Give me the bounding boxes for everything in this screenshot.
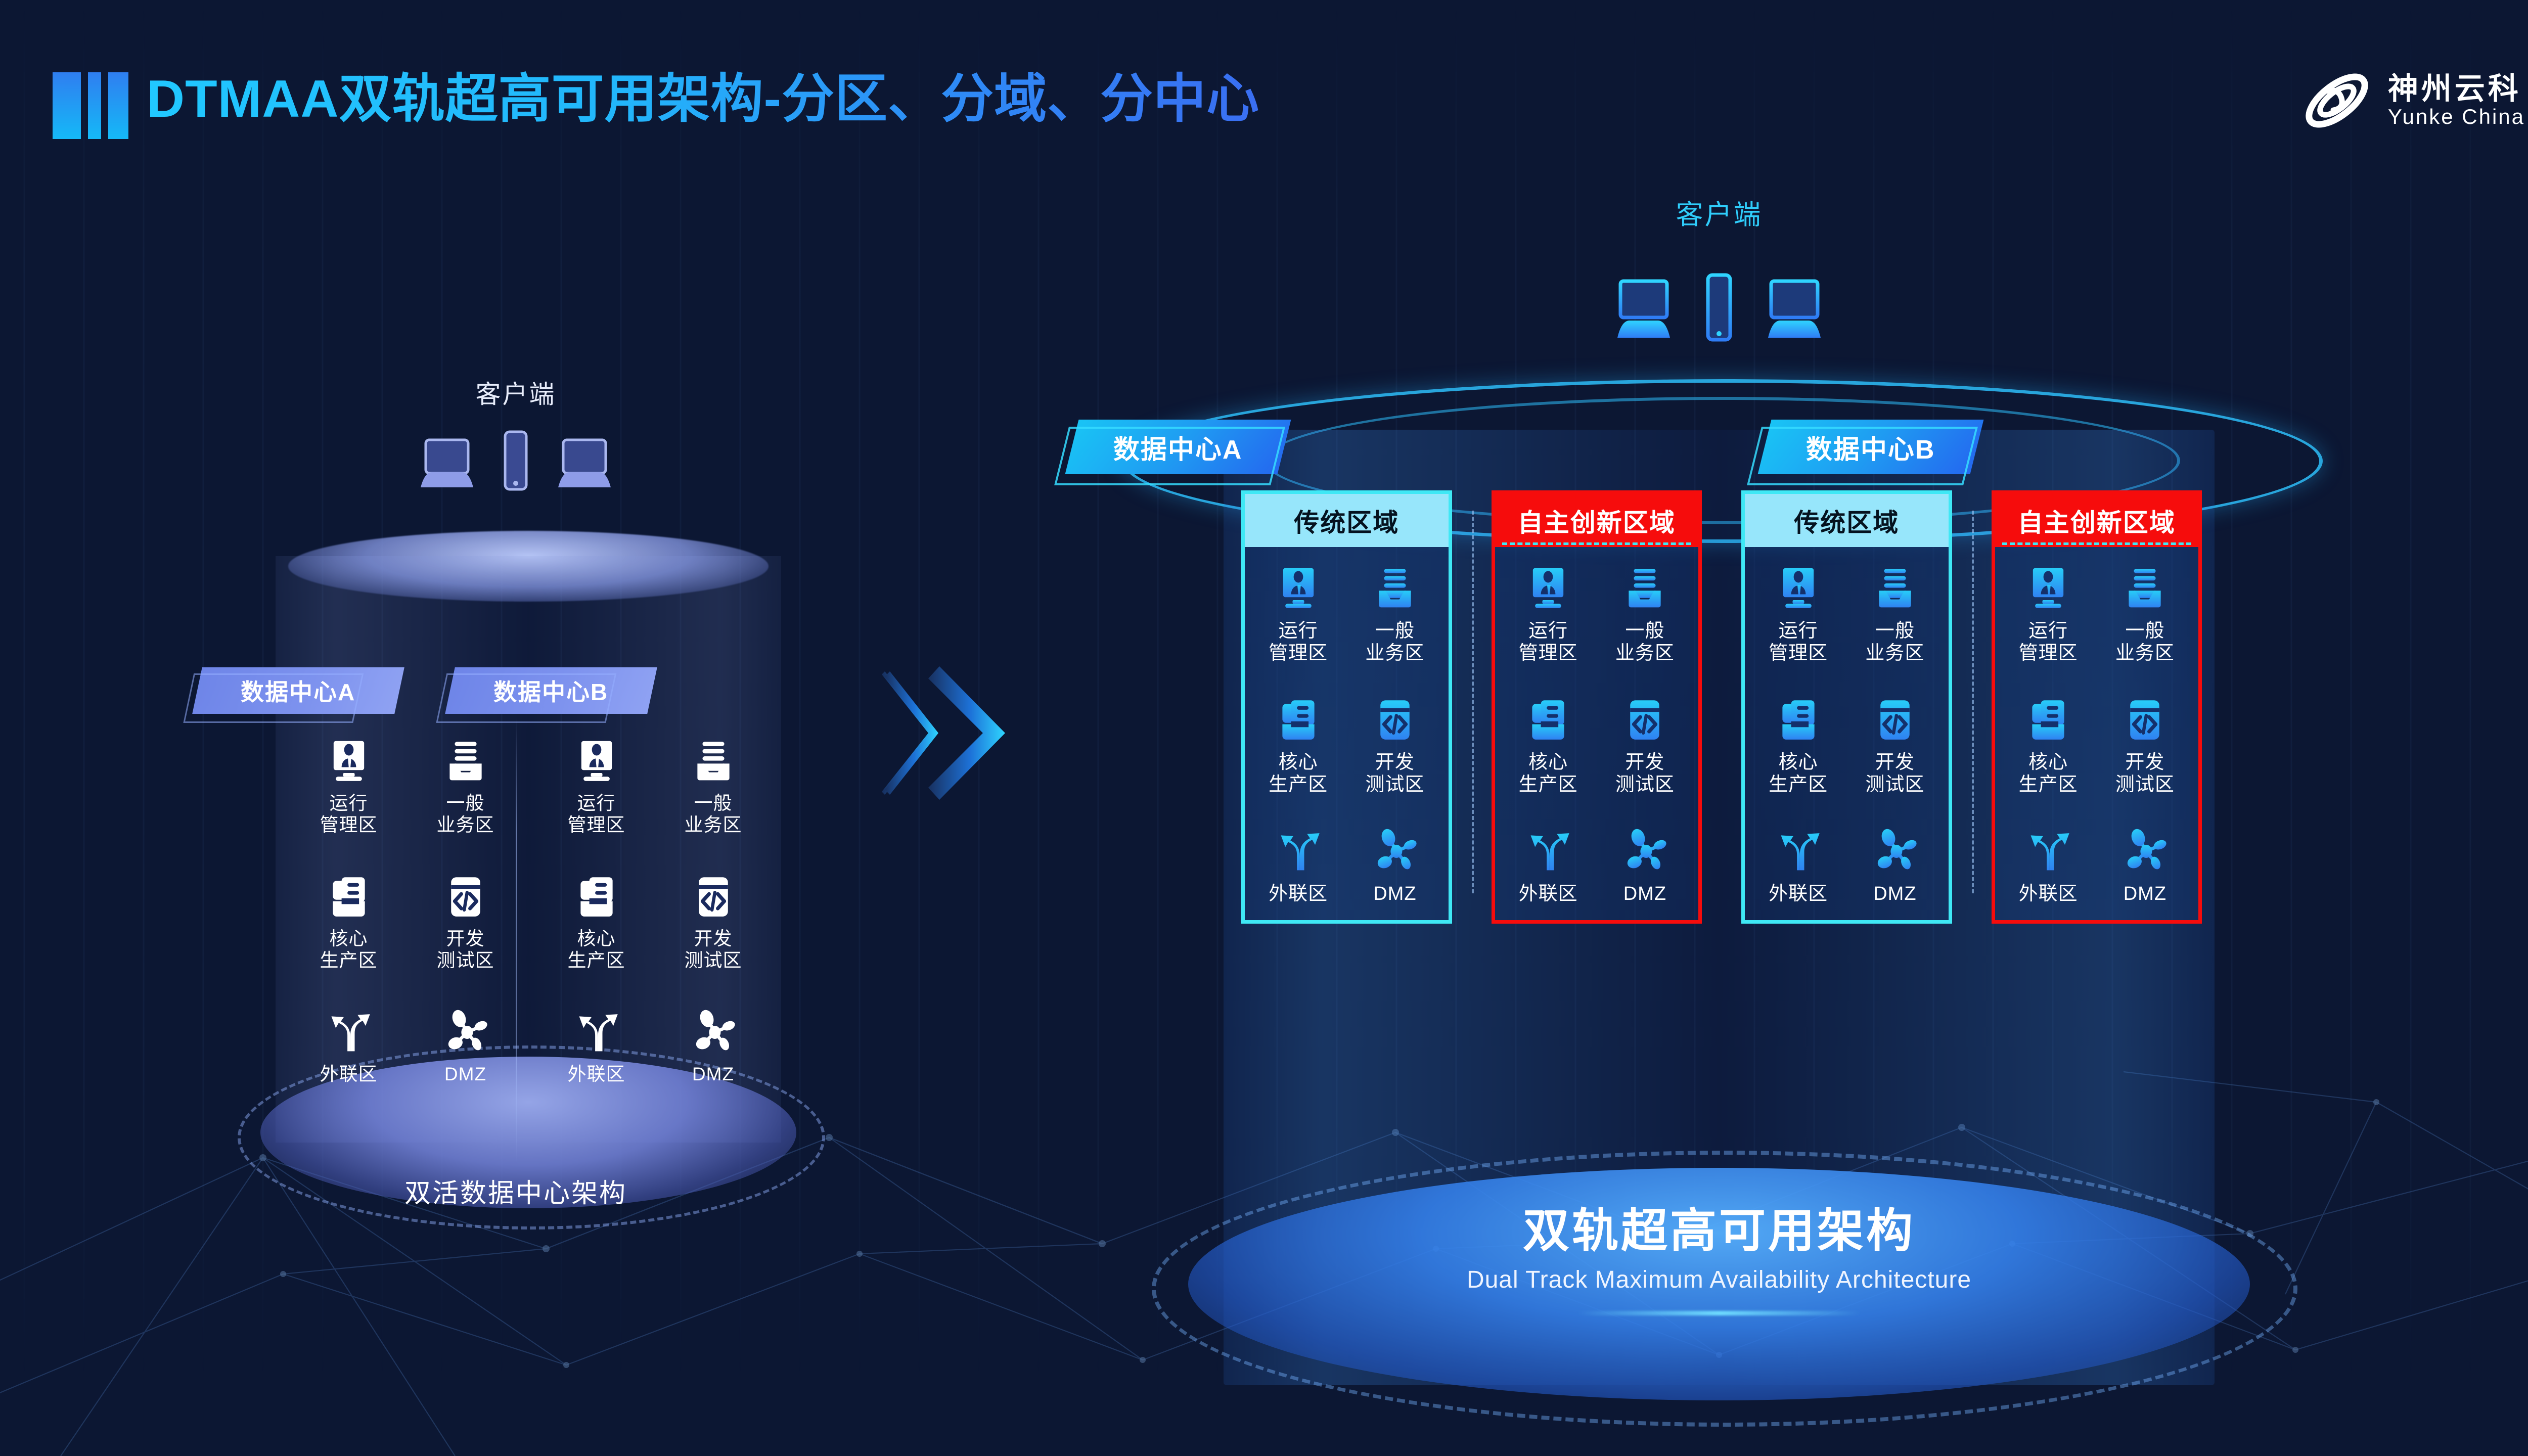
server-rack-icon bbox=[326, 874, 372, 920]
right-diagram-caption: 双轨超高可用架构 Dual Track Maximum Availability… bbox=[1021, 1203, 2417, 1315]
zone-label: 外联区 bbox=[568, 1064, 625, 1085]
branching-arrows-icon bbox=[326, 1009, 372, 1056]
panel-separator-dashed bbox=[1952, 490, 1992, 924]
network-nodes-icon bbox=[690, 1009, 737, 1056]
zone-cell[interactable]: 外联区 bbox=[1750, 828, 1846, 905]
zone-label: 外联区 bbox=[1769, 883, 1828, 905]
stacked-inbox-icon bbox=[690, 738, 737, 785]
code-brackets-icon bbox=[1872, 697, 1918, 743]
zone-cell[interactable]: 一般 业务区 bbox=[1846, 565, 1943, 664]
server-rack-icon bbox=[2025, 697, 2071, 743]
zone-label: DMZ bbox=[692, 1064, 734, 1085]
branching-arrows-icon bbox=[573, 1009, 620, 1056]
zone-label: 运行 管理区 bbox=[568, 793, 625, 836]
phone-icon bbox=[1705, 273, 1733, 342]
stacked-inbox-icon bbox=[1872, 565, 1918, 612]
zone-cell[interactable]: 外联区 bbox=[1500, 828, 1597, 905]
user-monitor-icon bbox=[1525, 565, 1571, 612]
network-nodes-icon bbox=[1872, 828, 1918, 875]
right-datacenter-a-badge[interactable]: 数据中心A bbox=[1065, 420, 1291, 474]
zone-label: 一般 业务区 bbox=[2115, 620, 2175, 664]
right-datacenter-b-badge[interactable]: 数据中心B bbox=[1758, 420, 1984, 474]
zone-label: DMZ bbox=[1623, 883, 1666, 905]
zone-cell[interactable]: 一般 业务区 bbox=[407, 738, 524, 836]
zone-cell[interactable]: 核心 生产区 bbox=[1750, 697, 1846, 796]
zone-cell[interactable]: DMZ bbox=[655, 1009, 772, 1085]
zone-label: 运行 管理区 bbox=[1519, 620, 1578, 664]
panel-title: 自主创新区域 bbox=[1492, 490, 1702, 547]
right-client-label: 客户端 bbox=[1021, 192, 2417, 232]
left-datacenter-a-zones: 运行 管理区 一般 业务区 bbox=[283, 738, 531, 1085]
brand-logo: 神州云科 Yunke China bbox=[2299, 65, 2525, 136]
panel-group-gap bbox=[1702, 490, 1741, 924]
panel-title: 传统区域 bbox=[1741, 490, 1952, 547]
zone-label: DMZ bbox=[444, 1064, 486, 1085]
zone-cell[interactable]: 开发 测试区 bbox=[1597, 697, 1693, 796]
left-datacenter-a-label: 数据中心A bbox=[241, 674, 355, 707]
zone-label: 核心 生产区 bbox=[1519, 751, 1578, 796]
zone-label: DMZ bbox=[1873, 883, 1916, 905]
zone-label: 开发 测试区 bbox=[2115, 751, 2175, 796]
left-datacenter-columns: 运行 管理区 一般 业务区 bbox=[283, 738, 779, 1085]
network-nodes-icon bbox=[442, 1009, 489, 1056]
zone-cell[interactable]: 核心 生产区 bbox=[290, 874, 407, 972]
zone-cell[interactable]: 一般 业务区 bbox=[655, 738, 772, 836]
panel-title: 传统区域 bbox=[1241, 490, 1452, 547]
left-datacenter-a-badge[interactable]: 数据中心A bbox=[192, 667, 404, 714]
double-chevron-right-icon bbox=[880, 662, 1031, 804]
zone-label: 开发 测试区 bbox=[1615, 751, 1675, 796]
code-brackets-icon bbox=[1621, 697, 1668, 743]
zone-label: 外联区 bbox=[320, 1064, 378, 1085]
left-datacenter-b-label: 数据中心B bbox=[493, 674, 608, 707]
zone-label: 一般 业务区 bbox=[1365, 620, 1424, 664]
panel-traditional-a[interactable]: 传统区域 bbox=[1241, 490, 1452, 924]
panel-body: 运行 管理区 bbox=[1992, 547, 2202, 924]
branching-arrows-icon bbox=[1275, 828, 1322, 875]
code-brackets-icon bbox=[690, 874, 737, 920]
zone-label: 外联区 bbox=[2019, 883, 2078, 905]
laptop-icon bbox=[1762, 278, 1827, 342]
zone-cell[interactable]: DMZ bbox=[2097, 828, 2193, 905]
panel-body: 运行 管理区 bbox=[1741, 547, 1952, 924]
phone-icon bbox=[503, 430, 529, 491]
user-monitor-icon bbox=[573, 738, 620, 785]
panel-body: 运行 管理区 bbox=[1241, 547, 1452, 924]
left-datacenter-b-badge[interactable]: 数据中心B bbox=[445, 667, 657, 714]
page-title: DTMAA双轨超高可用架构-分区、分域、分中心 bbox=[147, 66, 1259, 133]
stacked-inbox-icon bbox=[2121, 565, 2168, 612]
zone-label: 核心 生产区 bbox=[1269, 751, 1328, 796]
zone-cell[interactable]: 运行 管理区 bbox=[538, 738, 655, 836]
zone-cell[interactable]: 运行 管理区 bbox=[1500, 565, 1597, 664]
zone-label: 一般 业务区 bbox=[1865, 620, 1924, 664]
stacked-inbox-icon bbox=[1621, 565, 1668, 612]
zone-label: 外联区 bbox=[1269, 883, 1328, 905]
logo-text-cn: 神州云科 bbox=[2388, 74, 2525, 104]
branching-arrows-icon bbox=[1775, 828, 1822, 875]
zone-cell[interactable]: DMZ bbox=[407, 1009, 524, 1085]
zone-cell[interactable]: 外联区 bbox=[290, 1009, 407, 1085]
zone-cell[interactable]: DMZ bbox=[1346, 828, 1443, 905]
zone-cell[interactable]: 核心 生产区 bbox=[1250, 697, 1346, 796]
logo-text-en: Yunke China bbox=[2388, 106, 2525, 127]
code-brackets-icon bbox=[1372, 697, 1418, 743]
network-nodes-icon bbox=[1372, 828, 1418, 875]
zone-cell[interactable]: 运行 管理区 bbox=[1750, 565, 1846, 664]
panel-innovation-b[interactable]: 自主创新区域 bbox=[1992, 490, 2202, 924]
zone-cell[interactable]: 核心 生产区 bbox=[538, 874, 655, 972]
caption-glow-bar bbox=[1577, 1311, 1861, 1315]
panel-innovation-a[interactable]: 自主创新区域 bbox=[1492, 490, 1702, 924]
zone-label: DMZ bbox=[1373, 883, 1416, 905]
right-zone-panels: 传统区域 bbox=[1241, 490, 2202, 924]
zone-cell[interactable]: 运行 管理区 bbox=[2000, 565, 2097, 664]
zone-cell[interactable]: DMZ bbox=[1597, 828, 1693, 905]
panel-title: 自主创新区域 bbox=[1992, 490, 2202, 547]
left-client-devices bbox=[417, 430, 615, 491]
zone-label: 一般 业务区 bbox=[685, 793, 742, 836]
code-brackets-icon bbox=[442, 874, 489, 920]
zone-label: 一般 业务区 bbox=[437, 793, 494, 836]
zone-label: 开发 测试区 bbox=[1865, 751, 1924, 796]
right-datacenter-a-label: 数据中心A bbox=[1113, 428, 1243, 466]
server-rack-icon bbox=[1775, 697, 1822, 743]
zone-cell[interactable]: 外联区 bbox=[2000, 828, 2097, 905]
right-caption-en: Dual Track Maximum Availability Architec… bbox=[1021, 1266, 2417, 1294]
right-caption-cn: 双轨超高可用架构 bbox=[1021, 1203, 2417, 1259]
zone-cell[interactable]: 开发 测试区 bbox=[1846, 697, 1943, 796]
branching-arrows-icon bbox=[1525, 828, 1571, 875]
laptop-icon bbox=[417, 436, 477, 491]
zone-label: 核心 生产区 bbox=[320, 928, 378, 972]
zone-label: 外联区 bbox=[1519, 883, 1578, 905]
user-monitor-icon bbox=[1775, 565, 1822, 612]
zone-cell[interactable]: 一般 业务区 bbox=[1597, 565, 1693, 664]
network-nodes-icon bbox=[2121, 828, 2168, 875]
zone-cell[interactable]: 核心 生产区 bbox=[1500, 697, 1597, 796]
title-accent-bars bbox=[53, 72, 128, 139]
zone-cell[interactable]: 开发 测试区 bbox=[655, 874, 772, 972]
zone-cell[interactable]: 一般 业务区 bbox=[2097, 565, 2193, 664]
zone-label: 运行 管理区 bbox=[320, 793, 378, 836]
panel-traditional-b[interactable]: 传统区域 bbox=[1741, 490, 1952, 924]
zone-cell[interactable]: 外联区 bbox=[538, 1009, 655, 1085]
zone-cell[interactable]: 运行 管理区 bbox=[290, 738, 407, 836]
laptop-icon bbox=[554, 436, 615, 491]
code-brackets-icon bbox=[2121, 697, 2168, 743]
zone-label: 核心 生产区 bbox=[2019, 751, 2078, 796]
right-datacenter-b-label: 数据中心B bbox=[1806, 428, 1935, 466]
stacked-inbox-icon bbox=[442, 738, 489, 785]
left-architecture-diagram: 客户端 数据中心A 数据中心B bbox=[167, 334, 865, 1223]
zone-cell[interactable]: 运行 管理区 bbox=[1250, 565, 1346, 664]
zone-label: 运行 管理区 bbox=[2019, 620, 2078, 664]
laptop-icon bbox=[1611, 278, 1676, 342]
zone-label: 核心 生产区 bbox=[1769, 751, 1828, 796]
server-rack-icon bbox=[1275, 697, 1322, 743]
zone-label: DMZ bbox=[2124, 883, 2166, 905]
panel-body: 运行 管理区 bbox=[1492, 547, 1702, 924]
zone-label: 开发 测试区 bbox=[685, 928, 742, 972]
zone-cell[interactable]: DMZ bbox=[1846, 828, 1943, 905]
left-diagram-caption: 双活数据中心架构 bbox=[167, 1172, 865, 1210]
branching-arrows-icon bbox=[2025, 828, 2071, 875]
user-monitor-icon bbox=[1275, 565, 1322, 612]
panel-separator-dashed bbox=[1452, 490, 1492, 924]
left-datacenter-b-zones: 运行 管理区 一般 业务区 bbox=[531, 738, 779, 1085]
zone-label: 运行 管理区 bbox=[1769, 620, 1828, 664]
zone-cell[interactable]: 外联区 bbox=[1250, 828, 1346, 905]
user-monitor-icon bbox=[2025, 565, 2071, 612]
stacked-inbox-icon bbox=[1372, 565, 1418, 612]
zone-cell[interactable]: 开发 测试区 bbox=[2097, 697, 2193, 796]
zone-label: 运行 管理区 bbox=[1269, 620, 1328, 664]
zone-label: 核心 生产区 bbox=[568, 928, 625, 972]
network-nodes-icon bbox=[1621, 828, 1668, 875]
zone-cell[interactable]: 核心 生产区 bbox=[2000, 697, 2097, 796]
server-rack-icon bbox=[573, 874, 620, 920]
zone-cell[interactable]: 开发 测试区 bbox=[407, 874, 524, 972]
server-rack-icon bbox=[1525, 697, 1571, 743]
user-monitor-icon bbox=[326, 738, 372, 785]
zone-label: 开发 测试区 bbox=[437, 928, 494, 972]
zone-label: 一般 业务区 bbox=[1615, 620, 1675, 664]
right-architecture-diagram: 客户端 数据中心A 数据 bbox=[1021, 192, 2417, 1395]
left-client-label: 客户端 bbox=[167, 374, 865, 411]
zone-label: 开发 测试区 bbox=[1365, 751, 1424, 796]
zone-cell[interactable]: 一般 业务区 bbox=[1346, 565, 1443, 664]
zone-cell[interactable]: 开发 测试区 bbox=[1346, 697, 1443, 796]
swirl-logo-icon bbox=[2299, 65, 2375, 136]
right-client-devices bbox=[1611, 273, 1827, 342]
